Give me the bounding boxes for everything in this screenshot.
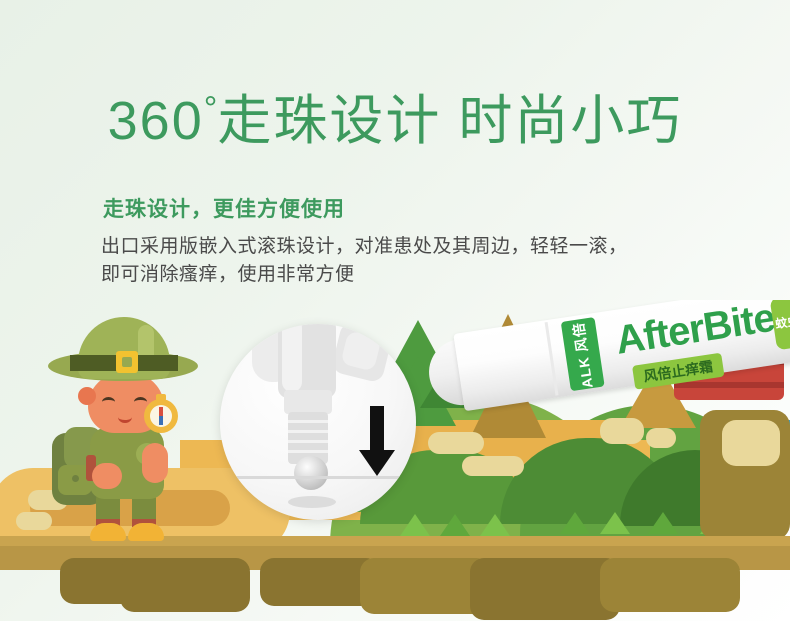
- shoe-right: [128, 523, 164, 541]
- thread-line-2: [288, 430, 328, 433]
- down-arrow-icon: [370, 406, 384, 452]
- tube-cap-highlight: [282, 324, 302, 392]
- grass-tooth-7: [560, 512, 590, 534]
- headline-text: 走珠设计 时尚小巧: [217, 91, 682, 151]
- page-headline: 360°走珠设计 时尚小巧: [0, 78, 790, 152]
- pebble-2: [462, 456, 524, 476]
- compass-needle-south: [159, 416, 163, 425]
- eye-left: [102, 397, 115, 407]
- arm-right: [142, 443, 168, 483]
- bottom-rock-5: [470, 558, 620, 620]
- thread-line-3: [288, 440, 328, 443]
- rock-highlight-right: [722, 420, 780, 466]
- eye-right: [134, 397, 147, 407]
- roller-ball: [294, 456, 328, 490]
- alk-badge: ALK 风倍: [561, 317, 605, 391]
- hat-buckle-inner: [122, 357, 132, 367]
- bottom-rock-6: [600, 558, 740, 612]
- brand-name: AfterBite: [613, 300, 778, 364]
- degree-symbol: °: [204, 90, 218, 128]
- grass-tooth-4: [400, 514, 430, 536]
- grass-tooth-9: [648, 512, 678, 534]
- pebble-3: [600, 418, 644, 444]
- roller-ball-shadow: [288, 496, 336, 508]
- alk-badge-label: ALK 风倍: [568, 319, 598, 391]
- tube-neck: [284, 390, 332, 414]
- headline-number: 360: [108, 91, 204, 151]
- smile-mouth: [118, 411, 132, 423]
- product-marketing-banner: 360°走珠设计 时尚小巧 走珠设计，更佳方便使用 出口采用版嵌入式滚珠设计，对…: [0, 0, 790, 621]
- body-line-2: 即可消除瘙痒，使用非常方便: [101, 261, 741, 289]
- skin-surface-line: [220, 476, 416, 479]
- magnifier-inset: [220, 324, 416, 520]
- backpack-button: [72, 475, 79, 482]
- thread-line-4: [288, 450, 328, 453]
- section-subheading: 走珠设计，更佳方便使用: [103, 196, 345, 224]
- illustration-scene: ALK 风倍 AfterBite 风倍止痒霜 蚊虫叮咬: [0, 300, 790, 621]
- body-copy: 出口采用版嵌入式滚珠设计，对准患处及其周边，轻轻一滚， 即可消除瘙痒，使用非常方…: [101, 233, 741, 289]
- pebble-1: [428, 432, 484, 454]
- character-ear: [78, 387, 96, 405]
- side-badge: 蚊虫叮咬: [770, 300, 790, 350]
- explorer-character: [40, 315, 220, 530]
- down-arrow-head-icon: [359, 450, 395, 476]
- grass-tooth-8: [600, 512, 630, 534]
- pebble-4: [646, 428, 676, 448]
- body-line-1: 出口采用版嵌入式滚珠设计，对准患处及其周边，轻轻一滚，: [101, 233, 741, 261]
- arm-left: [92, 463, 122, 489]
- thread-line-1: [288, 420, 328, 423]
- grass-tooth-6: [480, 514, 510, 536]
- grass-tooth-5: [440, 514, 470, 536]
- bottom-rock-2: [120, 558, 250, 612]
- shoe-left: [90, 523, 126, 541]
- tube-seam: [545, 322, 559, 396]
